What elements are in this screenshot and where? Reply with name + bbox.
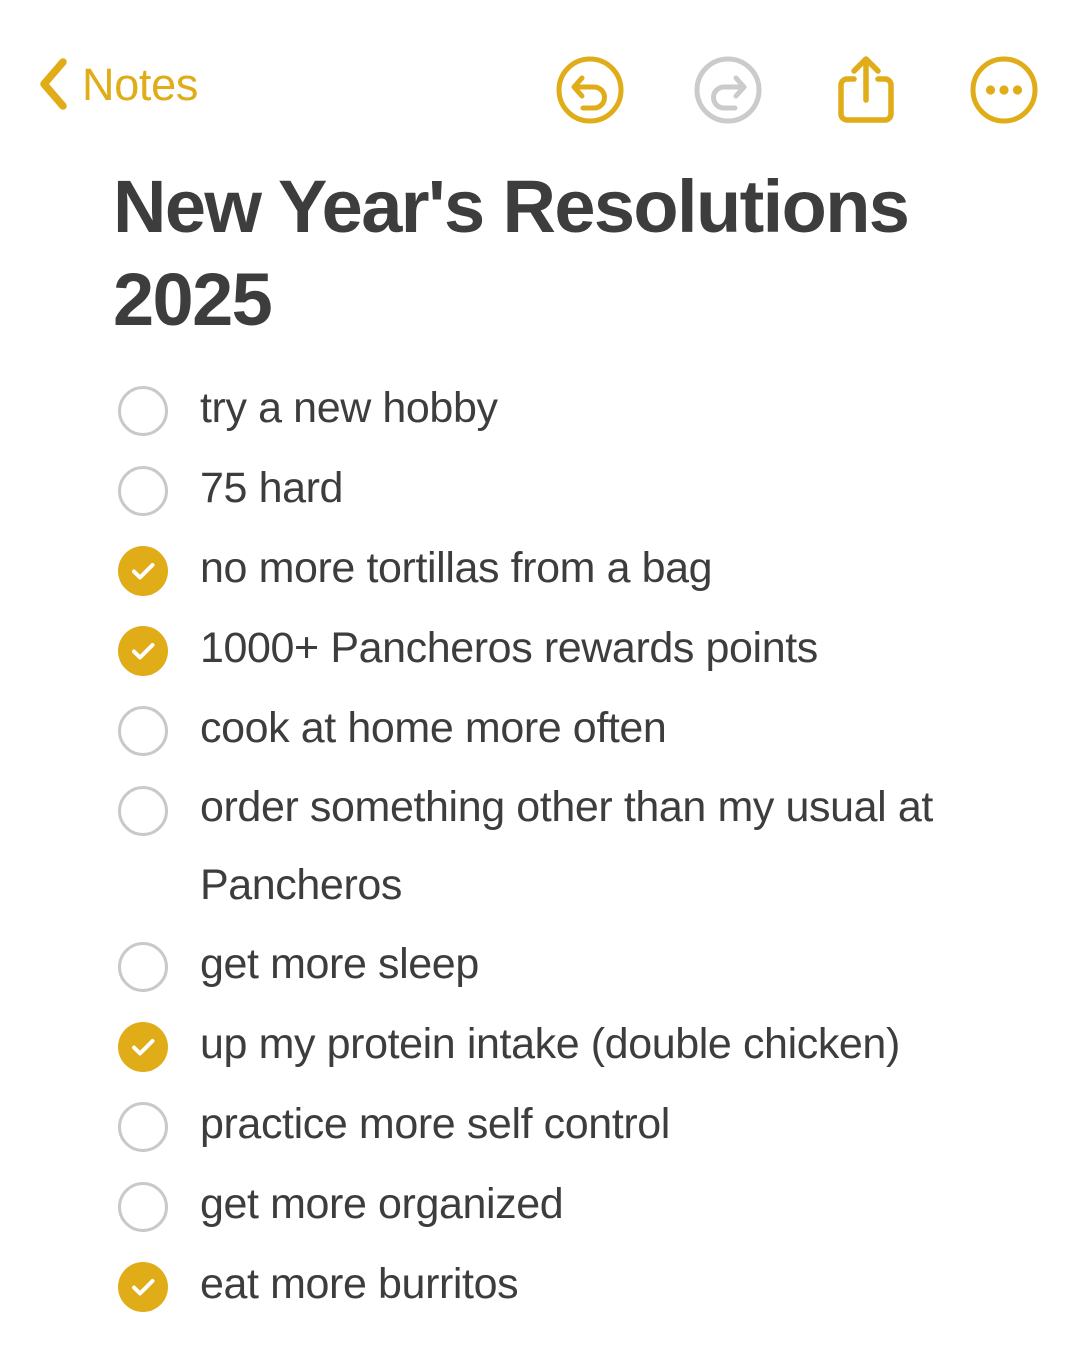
checkbox-unchecked-icon[interactable]	[118, 1182, 168, 1232]
checkbox-unchecked-icon[interactable]	[118, 386, 168, 436]
checkbox-checked-icon[interactable]	[118, 546, 168, 596]
checklist-item[interactable]: practice more self control	[0, 1084, 1080, 1164]
checklist-item[interactable]: cook at home more often	[0, 688, 1080, 768]
checklist-item[interactable]: no more tortillas from a bag	[0, 528, 1080, 608]
checkbox-unchecked-icon[interactable]	[118, 942, 168, 992]
checkbox-unchecked-icon[interactable]	[118, 706, 168, 756]
checklist-item[interactable]: 1000+ Pancheros rewards points	[0, 608, 1080, 688]
checklist-item[interactable]: up my protein intake (double chicken)	[0, 1004, 1080, 1084]
back-to-notes-button[interactable]: Notes	[38, 58, 198, 110]
checkbox-checked-icon[interactable]	[118, 626, 168, 676]
checklist-item-label: 1000+ Pancheros rewards points	[200, 608, 1040, 688]
more-icon[interactable]	[966, 52, 1042, 128]
undo-icon[interactable]	[552, 52, 628, 128]
checklist-item-label: try a new hobby	[200, 368, 1040, 448]
checklist-item-label: no more tortillas from a bag	[200, 528, 1040, 608]
note-title[interactable]: New Year's Resolutions 2025	[0, 160, 1080, 346]
checkbox-unchecked-icon[interactable]	[118, 1102, 168, 1152]
chevron-left-icon	[38, 58, 68, 110]
toolbar-actions	[552, 52, 1042, 128]
redo-icon[interactable]	[690, 52, 766, 128]
checklist-item[interactable]: try a new hobby	[0, 368, 1080, 448]
checkbox-unchecked-icon[interactable]	[118, 786, 168, 836]
back-button-label: Notes	[82, 62, 198, 107]
checklist-item-label: practice more self control	[200, 1084, 1040, 1164]
checkbox-checked-icon[interactable]	[118, 1262, 168, 1312]
note-content: New Year's Resolutions 2025 try a new ho…	[0, 160, 1080, 1324]
checklist-item-label: 75 hard	[200, 448, 1040, 528]
checklist-item-label: cook at home more often	[200, 688, 1040, 768]
checklist-item[interactable]: get more sleep	[0, 924, 1080, 1004]
checklist-item-label: get more sleep	[200, 924, 1040, 1004]
checkbox-checked-icon[interactable]	[118, 1022, 168, 1072]
checklist-item[interactable]: get more organized	[0, 1164, 1080, 1244]
checkbox-unchecked-icon[interactable]	[118, 466, 168, 516]
checklist-item-label: eat more burritos	[200, 1244, 1040, 1324]
checklist-item[interactable]: eat more burritos	[0, 1244, 1080, 1324]
note-toolbar: Notes	[0, 0, 1080, 150]
share-icon[interactable]	[828, 52, 904, 128]
checklist: try a new hobby 75 hard no more tortilla…	[0, 368, 1080, 1324]
checklist-item[interactable]: 75 hard	[0, 448, 1080, 528]
checklist-item-label: get more organized	[200, 1164, 1040, 1244]
checklist-item-label: up my protein intake (double chicken)	[200, 1004, 1040, 1084]
checklist-item-label: order something other than my usual at P…	[200, 768, 1040, 924]
checklist-item[interactable]: order something other than my usual at P…	[0, 768, 1080, 924]
